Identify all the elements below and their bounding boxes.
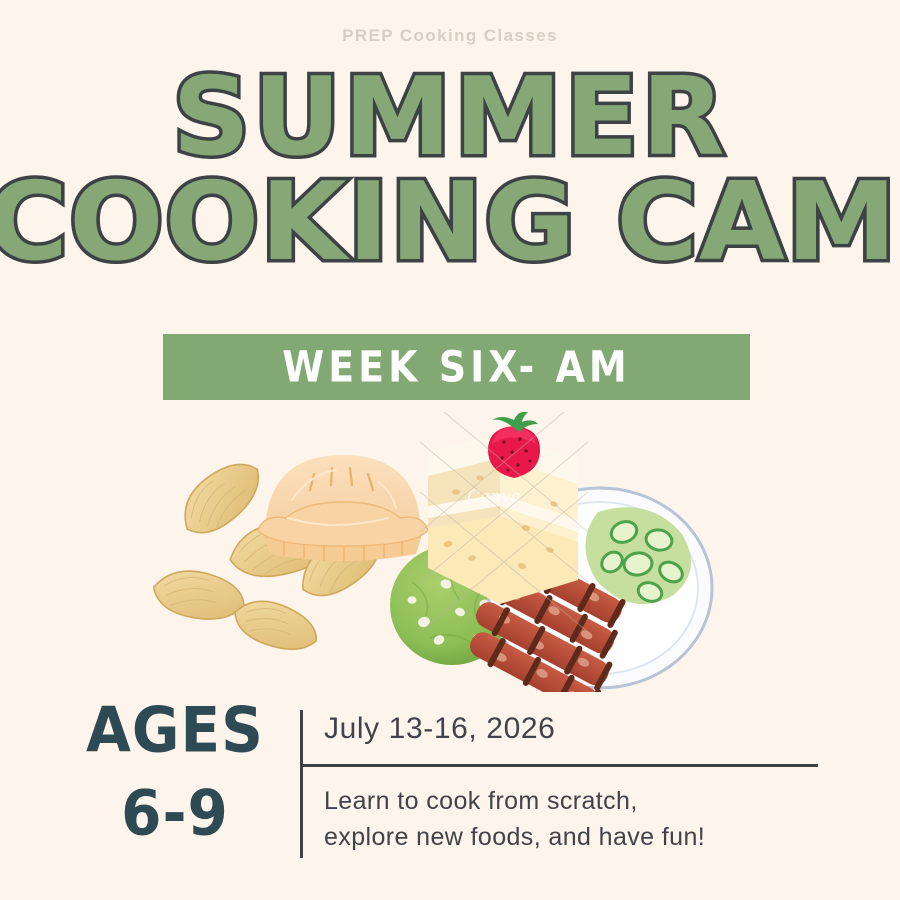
brand-eyebrow: PREP Cooking Classes bbox=[0, 26, 900, 46]
pie-group bbox=[258, 455, 428, 562]
ages-label: AGES bbox=[60, 698, 290, 764]
title-line-one: SUMMER bbox=[0, 68, 900, 167]
week-banner: WEEK SIX- AM bbox=[163, 334, 750, 400]
strawberry bbox=[488, 412, 540, 478]
page-title: SUMMER COOKING CAMP bbox=[0, 68, 900, 273]
horizontal-divider bbox=[300, 764, 818, 767]
vertical-divider bbox=[300, 710, 303, 858]
ages-range: 6-9 bbox=[60, 780, 290, 846]
title-line-two: COOKING CAMP bbox=[0, 173, 900, 272]
poster-canvas: PREP Cooking Classes SUMMER COOKING CAMP… bbox=[0, 0, 900, 900]
week-banner-label: WEEK SIX- AM bbox=[282, 342, 630, 391]
camp-dates: July 13-16, 2026 bbox=[324, 712, 555, 746]
food-illustration: Canva bbox=[140, 412, 760, 692]
camp-description: Learn to cook from scratch, explore new … bbox=[324, 784, 824, 855]
ages-block: AGES 6-9 bbox=[60, 700, 290, 844]
